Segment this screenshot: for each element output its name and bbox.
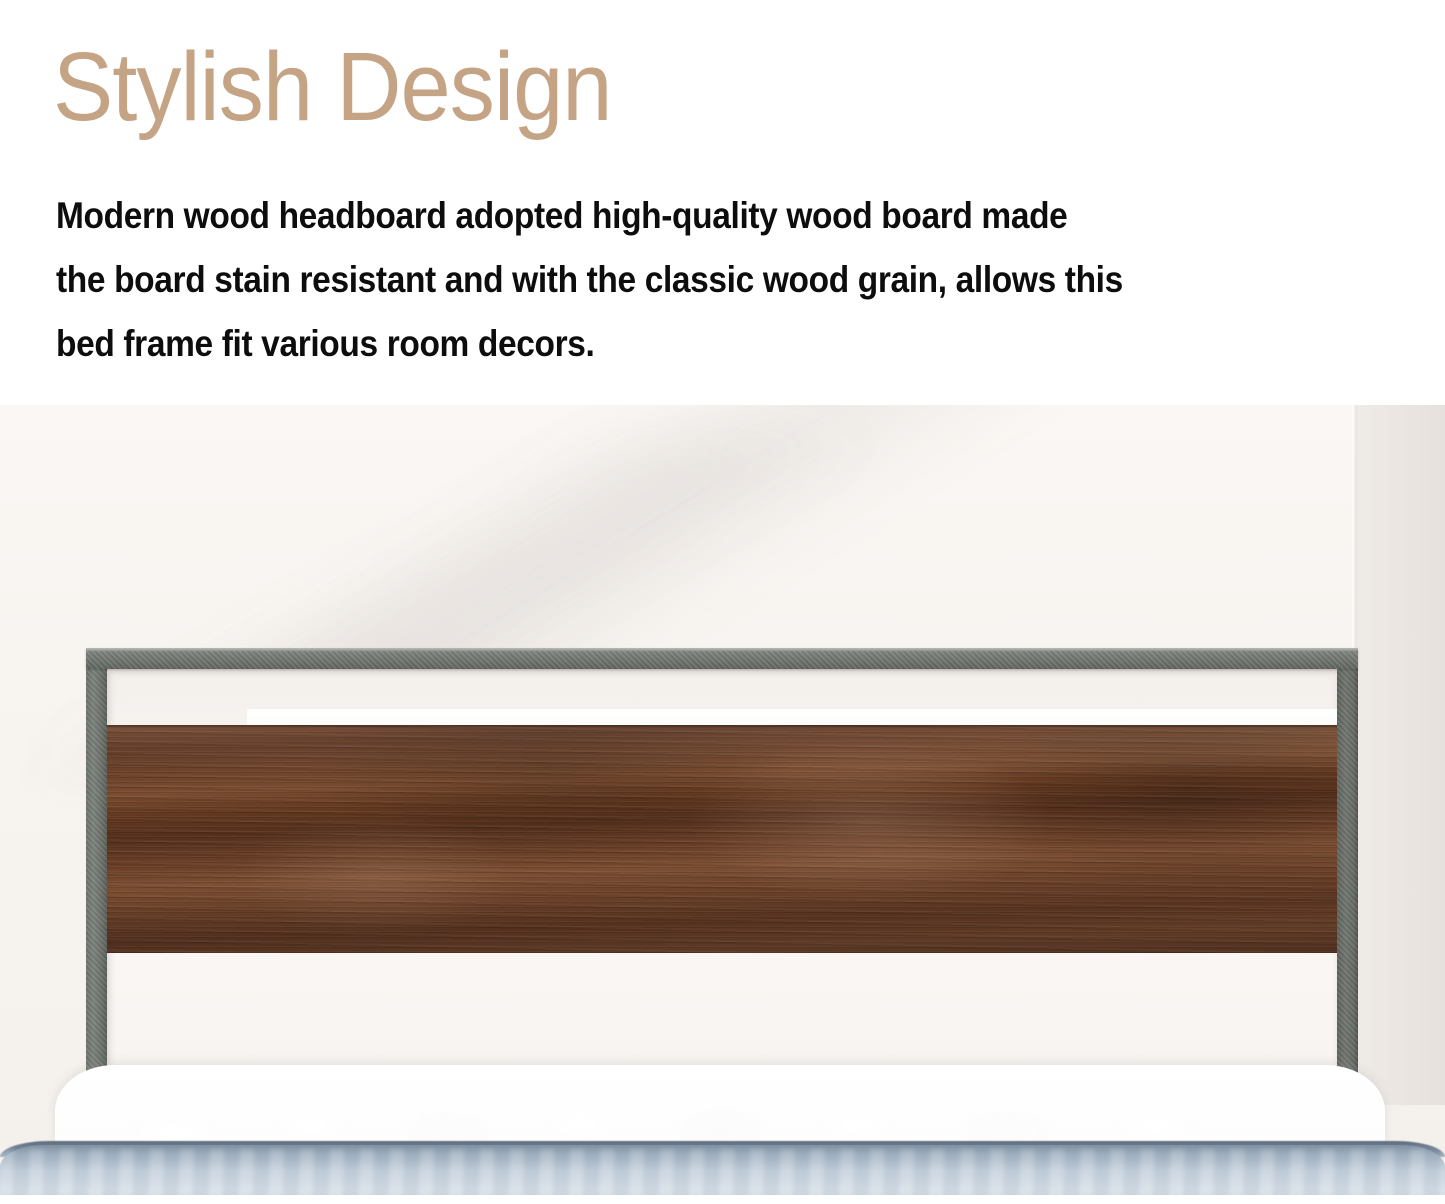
- wall-return-panel: [1355, 405, 1445, 1105]
- product-photo: [0, 405, 1445, 1204]
- wood-sheen: [105, 725, 1337, 953]
- description-line-3: bed frame fit various room decors.: [56, 312, 1233, 376]
- frame-top-highlight: [86, 648, 1358, 651]
- bottom-margin: [0, 1195, 1445, 1204]
- description-paragraph: Modern wood headboard adopted high-quali…: [56, 184, 1356, 376]
- wood-headboard-panel: [105, 725, 1337, 953]
- description-line-2: the board stain resistant and with the c…: [56, 248, 1233, 312]
- page-title: Stylish Design: [53, 38, 612, 137]
- frame-top-rail: [86, 648, 1358, 669]
- product-feature-page: Stylish Design Modern wood headboard ado…: [0, 0, 1445, 1204]
- text-header: Stylish Design Modern wood headboard ado…: [0, 0, 1445, 405]
- description-line-1: Modern wood headboard adopted high-quali…: [56, 184, 1233, 248]
- wood-panel-top-edge: [105, 725, 1337, 727]
